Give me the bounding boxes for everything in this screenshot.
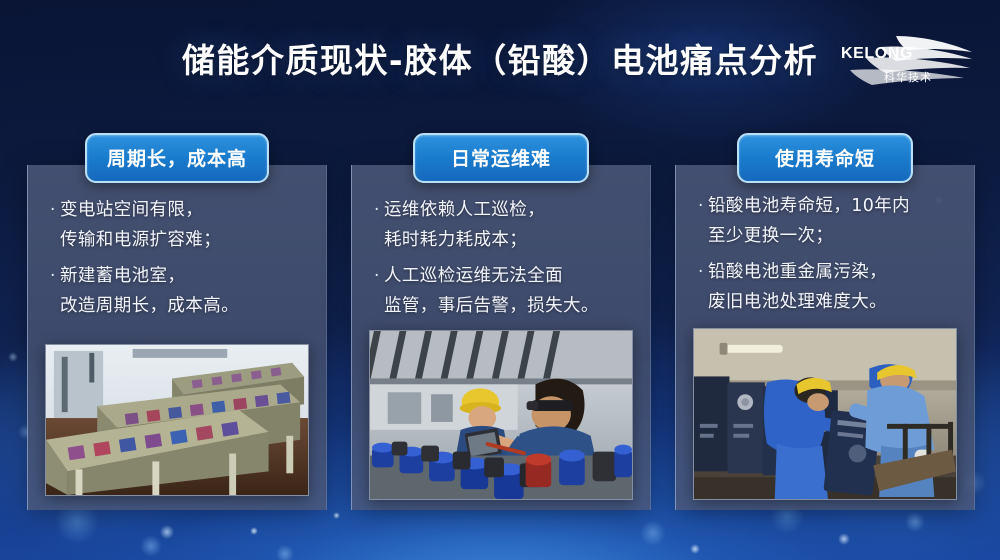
bullet-line: 耗时耗力耗成本； <box>384 230 527 250</box>
bullet-item: · 变电站空间有限， 传输和电源扩容难； <box>50 195 312 255</box>
bullet-marker-icon: · <box>374 195 384 225</box>
bullet-item: · 运维依赖人工巡检， 耗时耗力耗成本； <box>374 195 636 255</box>
bullet-item: · 铅酸电池寿命短，10年内 至少更换一次； <box>698 191 960 251</box>
bullet-text: 新建蓄电池室， 改造周期长，成本高。 <box>60 261 239 321</box>
company-logo: KELONG 科华技术 <box>840 28 980 90</box>
bullet-marker-icon: · <box>698 191 708 221</box>
bokeh-particle <box>160 525 174 539</box>
bokeh-particle <box>250 527 258 535</box>
bullet-line: 监管，事后告警，损失大。 <box>384 296 599 316</box>
pain-point-card-cost[interactable]: 周期长，成本高 · 变电站空间有限， 传输和电源扩容难； · 新建蓄电池室， 改… <box>27 165 327 510</box>
bokeh-particle <box>333 512 340 519</box>
bokeh-particle <box>8 352 18 362</box>
bullet-text: 运维依赖人工巡检， 耗时耗力耗成本； <box>384 195 545 255</box>
bullet-line: 改造周期长，成本高。 <box>60 296 239 316</box>
pain-point-card-lifespan[interactable]: 使用寿命短 · 铅酸电池寿命短，10年内 至少更换一次； · 铅酸电池重金属污染… <box>675 165 975 510</box>
pain-point-card-maintenance[interactable]: 日常运维难 · 运维依赖人工巡检， 耗时耗力耗成本； · 人工巡检运维无法全面 … <box>351 165 651 510</box>
bullet-line: 至少更换一次； <box>708 226 833 246</box>
battery-room-racks-photo <box>45 344 309 496</box>
bullet-item: · 人工巡检运维无法全面 监管，事后告警，损失大。 <box>374 261 636 321</box>
manual-inspection-photo <box>369 330 633 500</box>
bokeh-particle <box>838 533 850 545</box>
bullet-text: 变电站空间有限， 传输和电源扩容难； <box>60 195 221 255</box>
pain-point-cards: 周期长，成本高 · 变电站空间有限， 传输和电源扩容难； · 新建蓄电池室， 改… <box>27 165 975 510</box>
card-bullets-cost: · 变电站空间有限， 传输和电源扩容难； · 新建蓄电池室， 改造周期长，成本高… <box>50 195 312 327</box>
bullet-line: 铅酸电池寿命短，10年内 <box>708 196 910 216</box>
logo-subtitle-text: 科华技术 <box>884 70 932 84</box>
bullet-text: 人工巡检运维无法全面 监管，事后告警，损失大。 <box>384 261 599 321</box>
card-header-pill-cost[interactable]: 周期长，成本高 <box>85 133 269 183</box>
bokeh-particle <box>140 535 162 557</box>
presentation-slide: 储能介质现状-胶体（铅酸）电池痛点分析 KELONG 科华技术 周期长，成本高 … <box>0 0 1000 560</box>
bokeh-particle <box>905 512 925 532</box>
bokeh-particle <box>276 545 294 560</box>
logo-brand-text: KELONG <box>841 45 913 62</box>
bokeh-particle <box>640 520 666 546</box>
bullet-line: 铅酸电池重金属污染， <box>708 262 887 282</box>
bullet-text: 铅酸电池重金属污染， 废旧电池处理难度大。 <box>708 257 887 317</box>
card-header-pill-maintenance[interactable]: 日常运维难 <box>413 133 589 183</box>
bullet-line: 新建蓄电池室， <box>60 266 185 286</box>
card-bullets-lifespan: · 铅酸电池寿命短，10年内 至少更换一次； · 铅酸电池重金属污染， 废旧电池… <box>698 191 960 323</box>
bullet-line: 变电站空间有限， <box>60 200 203 220</box>
bullet-line: 废旧电池处理难度大。 <box>708 292 887 312</box>
card-header-pill-lifespan[interactable]: 使用寿命短 <box>737 133 913 183</box>
bullet-line: 人工巡检运维无法全面 <box>384 266 563 286</box>
bullet-text: 铅酸电池寿命短，10年内 至少更换一次； <box>708 191 910 251</box>
bullet-item: · 铅酸电池重金属污染， 废旧电池处理难度大。 <box>698 257 960 317</box>
bullet-marker-icon: · <box>698 257 708 287</box>
card-bullets-maintenance: · 运维依赖人工巡检， 耗时耗力耗成本； · 人工巡检运维无法全面 监管，事后告… <box>374 195 636 327</box>
battery-replacement-photo <box>693 328 957 500</box>
bokeh-particle <box>690 544 700 554</box>
bullet-marker-icon: · <box>50 261 60 291</box>
bullet-line: 运维依赖人工巡检， <box>384 200 545 220</box>
bullet-marker-icon: · <box>374 261 384 291</box>
bullet-item: · 新建蓄电池室， 改造周期长，成本高。 <box>50 261 312 321</box>
bullet-line: 传输和电源扩容难； <box>60 230 221 250</box>
bullet-marker-icon: · <box>50 195 60 225</box>
